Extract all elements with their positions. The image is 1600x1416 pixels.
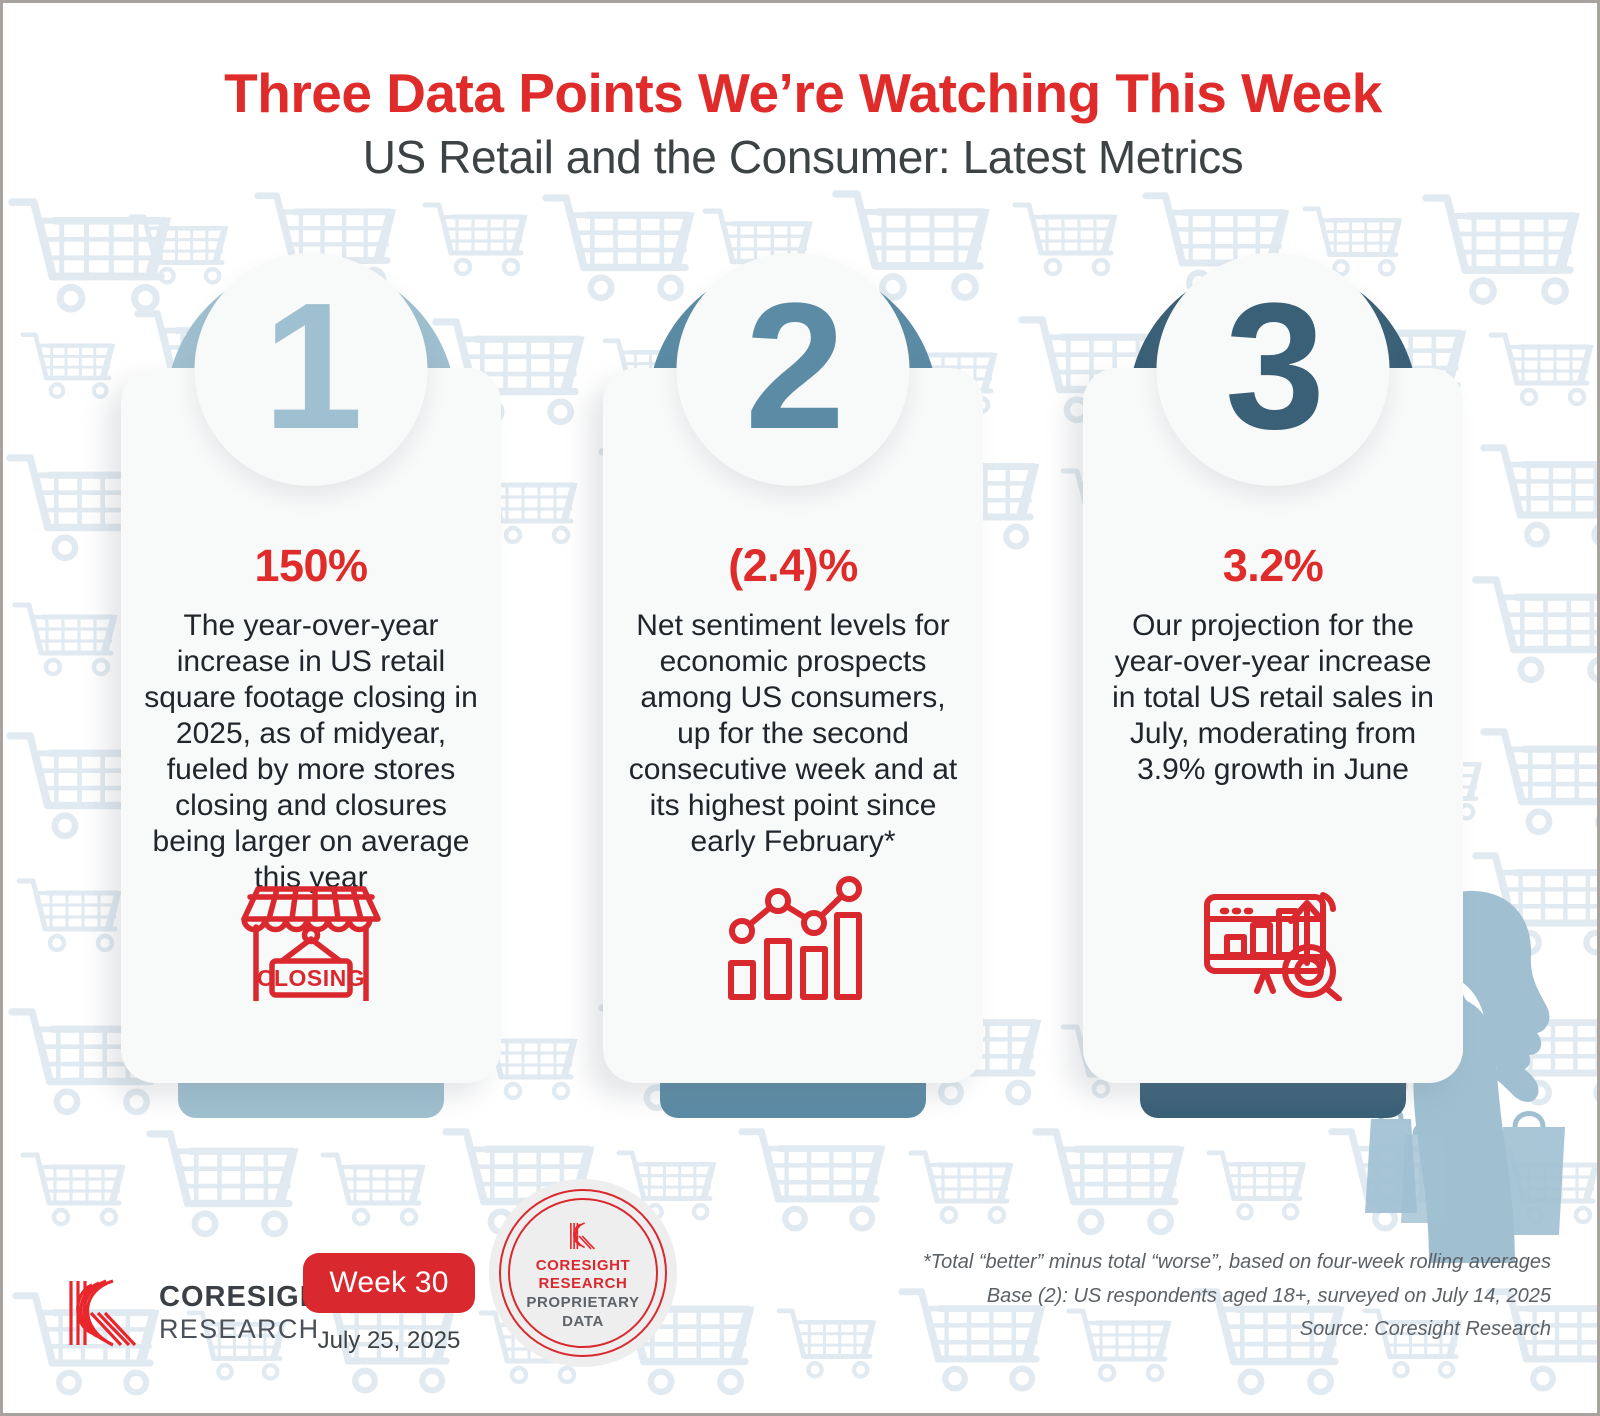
data-point-card-2: 2 (2.4)% Net sentiment levels for econom…: [603, 368, 983, 1083]
card-1-number-circle: 1: [195, 253, 428, 486]
data-point-card-1: 1 150% The year-over-year increase in US…: [121, 368, 501, 1083]
week-block: Week 30 July 25, 2025: [299, 1253, 479, 1355]
seal-logo-mark: [566, 1219, 600, 1253]
card-3-body: 3 3.2% Our projection for the year-over-…: [1083, 368, 1463, 1083]
card-2-icon-slot: [603, 851, 983, 1001]
store-closing-icon: CLOSING: [236, 865, 386, 1001]
proprietary-data-seal: CORESIGHT RESEARCH PROPRIETARY DATA: [489, 1179, 677, 1367]
seal-line-3: PROPRIETARY: [526, 1294, 639, 1313]
seal-line-4: DATA: [562, 1313, 604, 1332]
footer: CORESIGHT RESEARCH Week 30 July 25, 2025: [3, 1183, 1600, 1413]
footnote-source: Source: Coresight Research: [923, 1313, 1551, 1347]
card-1-icon-slot: CLOSING: [121, 851, 501, 1001]
card-3-description: Our projection for the year-over-year in…: [1083, 608, 1463, 788]
infographic-page: Three Data Points We’re Watching This We…: [0, 0, 1600, 1416]
footnotes: *Total “better” minus total “worse”, bas…: [923, 1246, 1551, 1347]
svg-text:CLOSING: CLOSING: [257, 965, 365, 991]
seal-outer-ring: CORESIGHT RESEARCH PROPRIETARY DATA: [499, 1189, 667, 1357]
card-3-number-circle: 3: [1157, 253, 1390, 486]
card-2-description: Net sentiment levels for economic prospe…: [603, 608, 983, 860]
coresight-logo-mark: [61, 1271, 145, 1355]
data-point-card-3: 3 3.2% Our projection for the year-over-…: [1083, 368, 1463, 1083]
page-title: Three Data Points We’re Watching This We…: [3, 65, 1600, 123]
card-3-stat: 3.2%: [1083, 540, 1463, 592]
card-2-body: 2 (2.4)% Net sentiment levels for econom…: [603, 368, 983, 1083]
page-subtitle: US Retail and the Consumer: Latest Metri…: [3, 133, 1600, 181]
card-2-number-circle: 2: [677, 253, 910, 486]
card-1-stat: 150%: [121, 540, 501, 592]
seal-line-1: CORESIGHT: [536, 1257, 631, 1276]
footnote-2: Base (2): US respondents aged 18+, surve…: [923, 1280, 1551, 1314]
card-2-stat: (2.4)%: [603, 540, 983, 592]
bar-line-chart-icon: [723, 875, 863, 1001]
card-3-number: 3: [1225, 277, 1321, 457]
footnote-1: *Total “better” minus total “worse”, bas…: [923, 1246, 1551, 1280]
seal-line-2: RESEARCH: [539, 1275, 628, 1294]
card-2-number: 2: [745, 277, 841, 457]
header: Three Data Points We’re Watching This We…: [3, 3, 1600, 181]
card-1-number: 1: [263, 277, 359, 457]
seal-inner-ring: CORESIGHT RESEARCH PROPRIETARY DATA: [508, 1198, 658, 1348]
publication-date: July 25, 2025: [299, 1327, 479, 1355]
dashboard-analytics-icon: [1197, 867, 1349, 1001]
card-3-icon-slot: [1083, 851, 1463, 1001]
week-badge[interactable]: Week 30: [303, 1253, 474, 1313]
card-1-body: 1 150% The year-over-year increase in US…: [121, 368, 501, 1083]
